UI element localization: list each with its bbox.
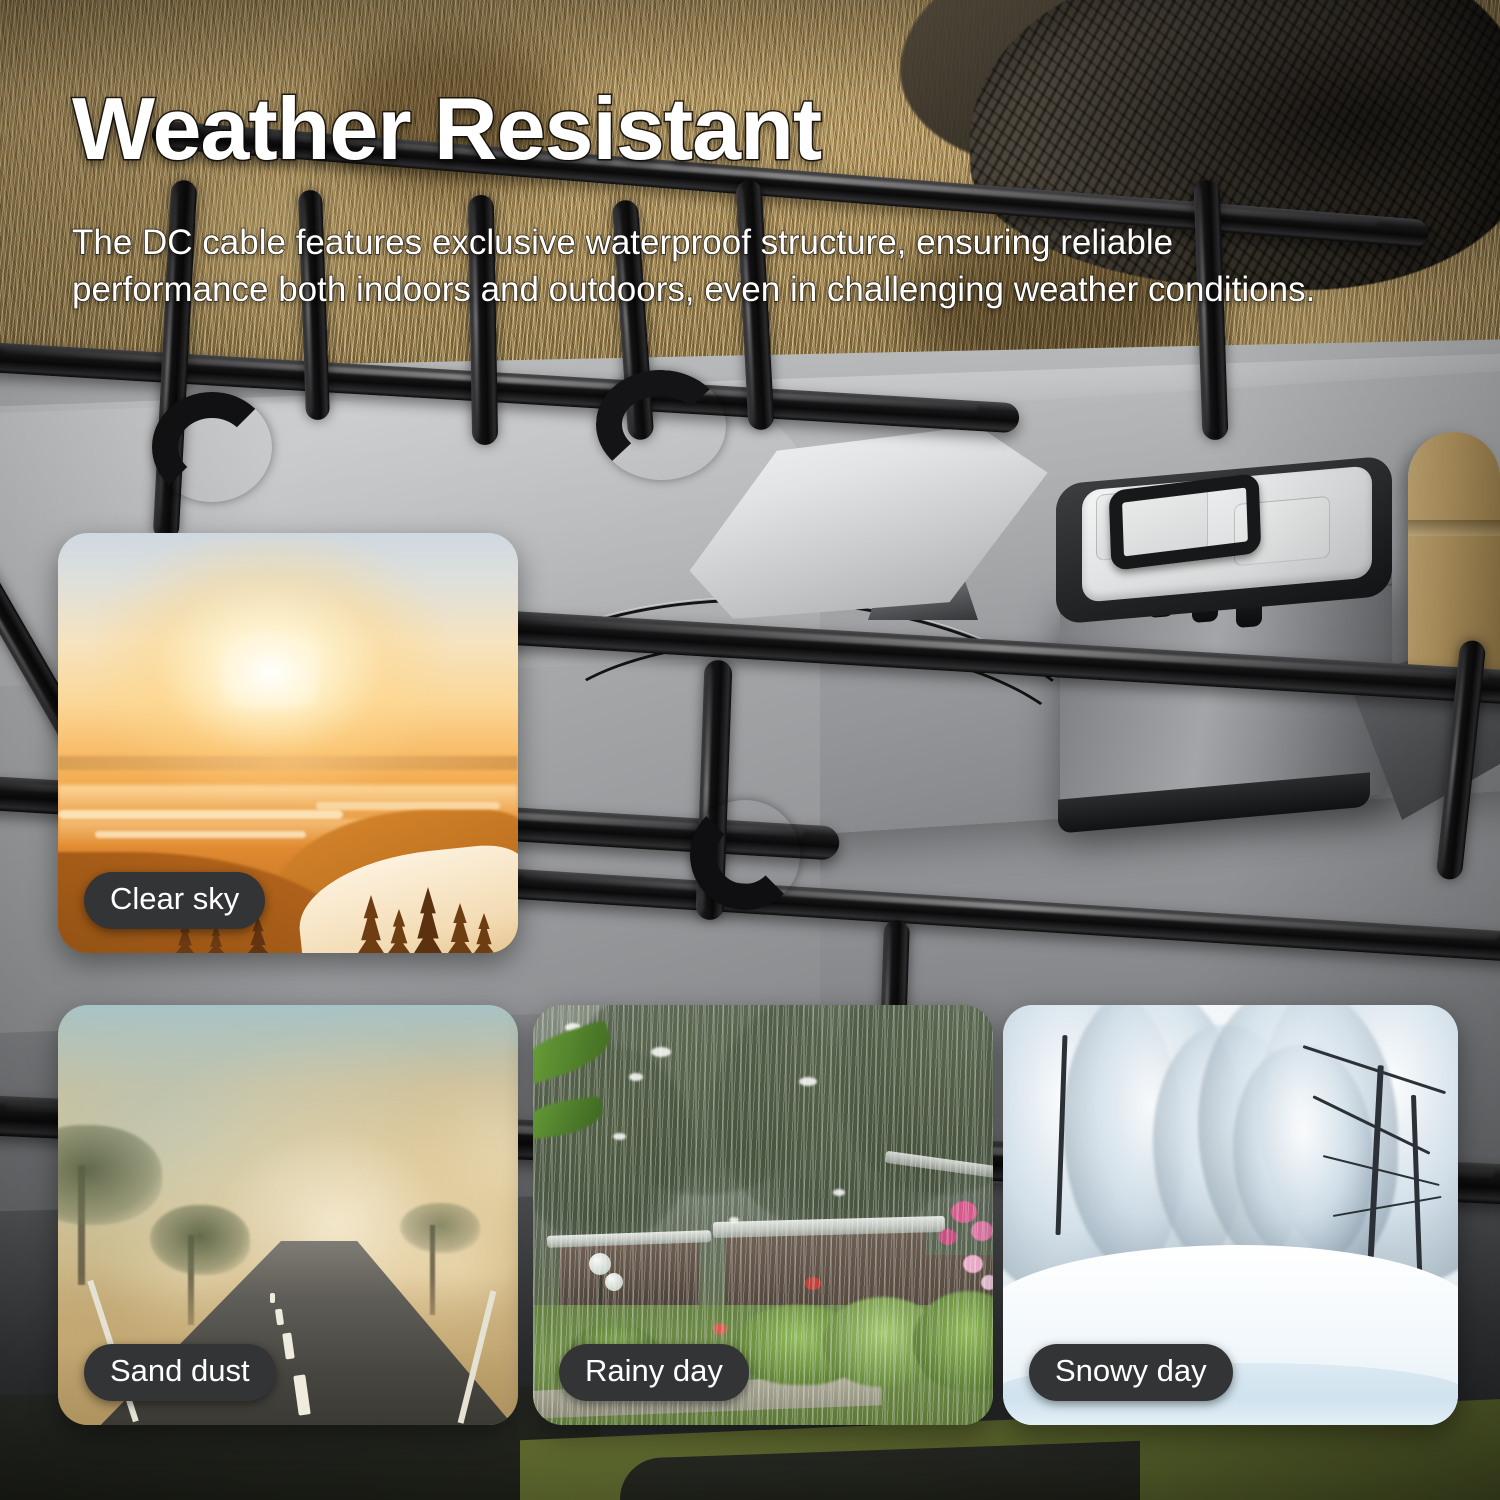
weather-card-rainy-day[interactable]: Rainy day [533, 1005, 993, 1425]
distant-ridge [58, 756, 518, 770]
tan-canister-ring [1408, 520, 1500, 536]
tan-canister [1408, 432, 1500, 682]
rain-droplet [651, 1047, 671, 1057]
page-title: Weather Resistant [72, 86, 821, 172]
rain-droplet [629, 1073, 643, 1081]
roof-rack-bend [152, 392, 272, 502]
rain-droplet [833, 1189, 845, 1196]
tree-canopy [400, 1203, 480, 1253]
sun-core [222, 636, 318, 708]
weather-card-clear-sky[interactable]: Clear sky [58, 533, 518, 953]
product-feature-banner: Weather Resistant The DC cable features … [0, 0, 1500, 1500]
rain-droplet [799, 1077, 817, 1086]
card-label-clear-sky: Clear sky [84, 872, 265, 929]
shoreline [316, 802, 500, 810]
card-label-snowy-day: Snowy day [1029, 1344, 1233, 1401]
shoreline [58, 810, 343, 819]
rain-droplet [729, 1217, 739, 1223]
shoreline [95, 831, 307, 838]
card-label-sand-dust: Sand dust [84, 1344, 276, 1401]
tree-canopy [150, 1205, 250, 1275]
weather-card-sand-dust[interactable]: Sand dust [58, 1005, 518, 1425]
page-subtitle: The DC cable features exclusive waterpro… [72, 220, 1372, 313]
card-label-rainy-day: Rainy day [559, 1344, 749, 1401]
rain-droplet [613, 1133, 626, 1140]
weather-card-snowy-day[interactable]: Snowy day [1003, 1005, 1458, 1425]
road-dash [270, 1293, 275, 1303]
roof-rack-bend [690, 800, 800, 910]
